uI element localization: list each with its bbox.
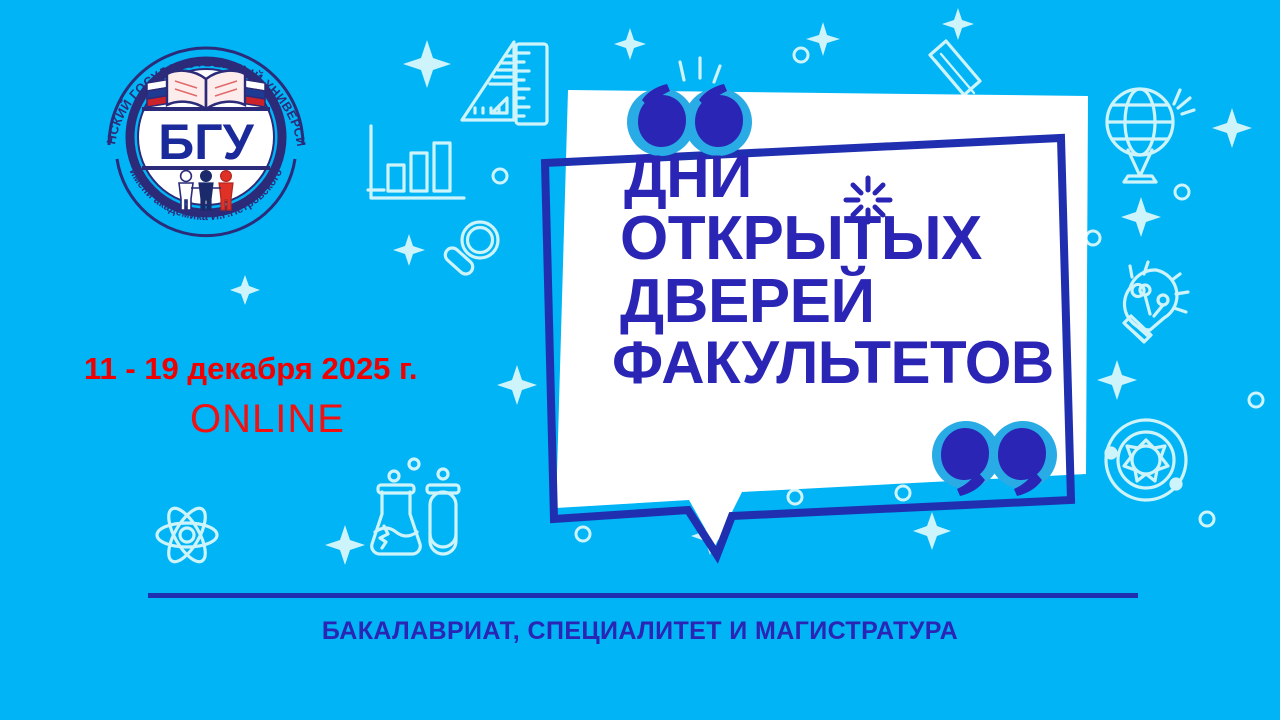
event-mode: ONLINE: [190, 397, 345, 442]
footer-caption: БАКАЛАВРИАТ, СПЕЦИАЛИТЕТ И МАГИСТРАТУРА: [0, 617, 1280, 646]
footer-divider: [148, 593, 1138, 598]
headline-line-3: ДВЕРЕЙ: [620, 272, 1082, 333]
poster-root: ДНИ ОТКРЫТЫХ ДВЕРЕЙ ФАКУЛЬТЕТОВ 11 - 19 …: [0, 0, 1280, 720]
logo-abbreviation: БГУ: [158, 114, 254, 170]
event-dates: 11 - 19 декабря 2025 г.: [84, 351, 417, 387]
headline-line-4: ФАКУЛЬТЕТОВ: [612, 334, 1082, 393]
asterisk-spark-icon: [838, 170, 898, 230]
bgu-logo: БРЯНСКИЙ ГОСУДАРСТВЕННЫЙ УНИВЕРСИТЕТ име…: [95, 33, 317, 241]
